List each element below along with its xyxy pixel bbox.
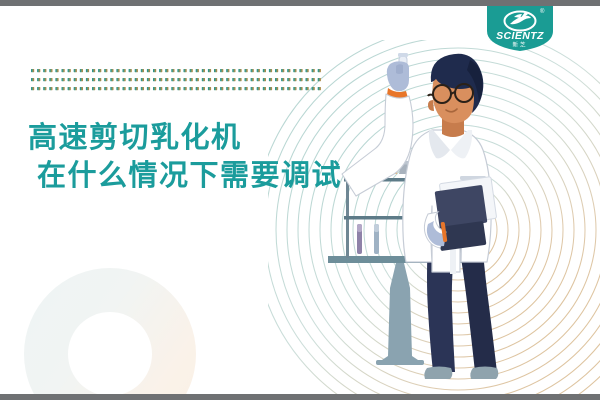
registered-mark: ®: [540, 8, 545, 15]
headline-line-1: 高速剪切乳化机: [28, 118, 342, 156]
bottom-chrome-bar: [0, 394, 600, 400]
dot-grid-decoration: [31, 69, 327, 95]
logo-brand-text: SCIENTZ: [496, 30, 544, 42]
head: [428, 54, 483, 137]
decorative-donut: [24, 268, 196, 400]
test-tube-rack: [357, 224, 409, 254]
headline-line-2: 在什么情况下需要调试: [37, 156, 342, 194]
banner-root: 高速剪切乳化机 在什么情况下需要调试: [0, 0, 600, 400]
raised-arm-with-test-tube: [342, 53, 413, 196]
scientz-logo[interactable]: ® SCIENTZ 新芝: [487, 4, 553, 51]
logo-brand-cn: 新芝: [512, 41, 527, 49]
scientist-illustration: [300, 38, 600, 394]
page-title: 高速剪切乳化机 在什么情况下需要调试: [28, 118, 342, 194]
top-chrome-bar: [0, 0, 600, 6]
